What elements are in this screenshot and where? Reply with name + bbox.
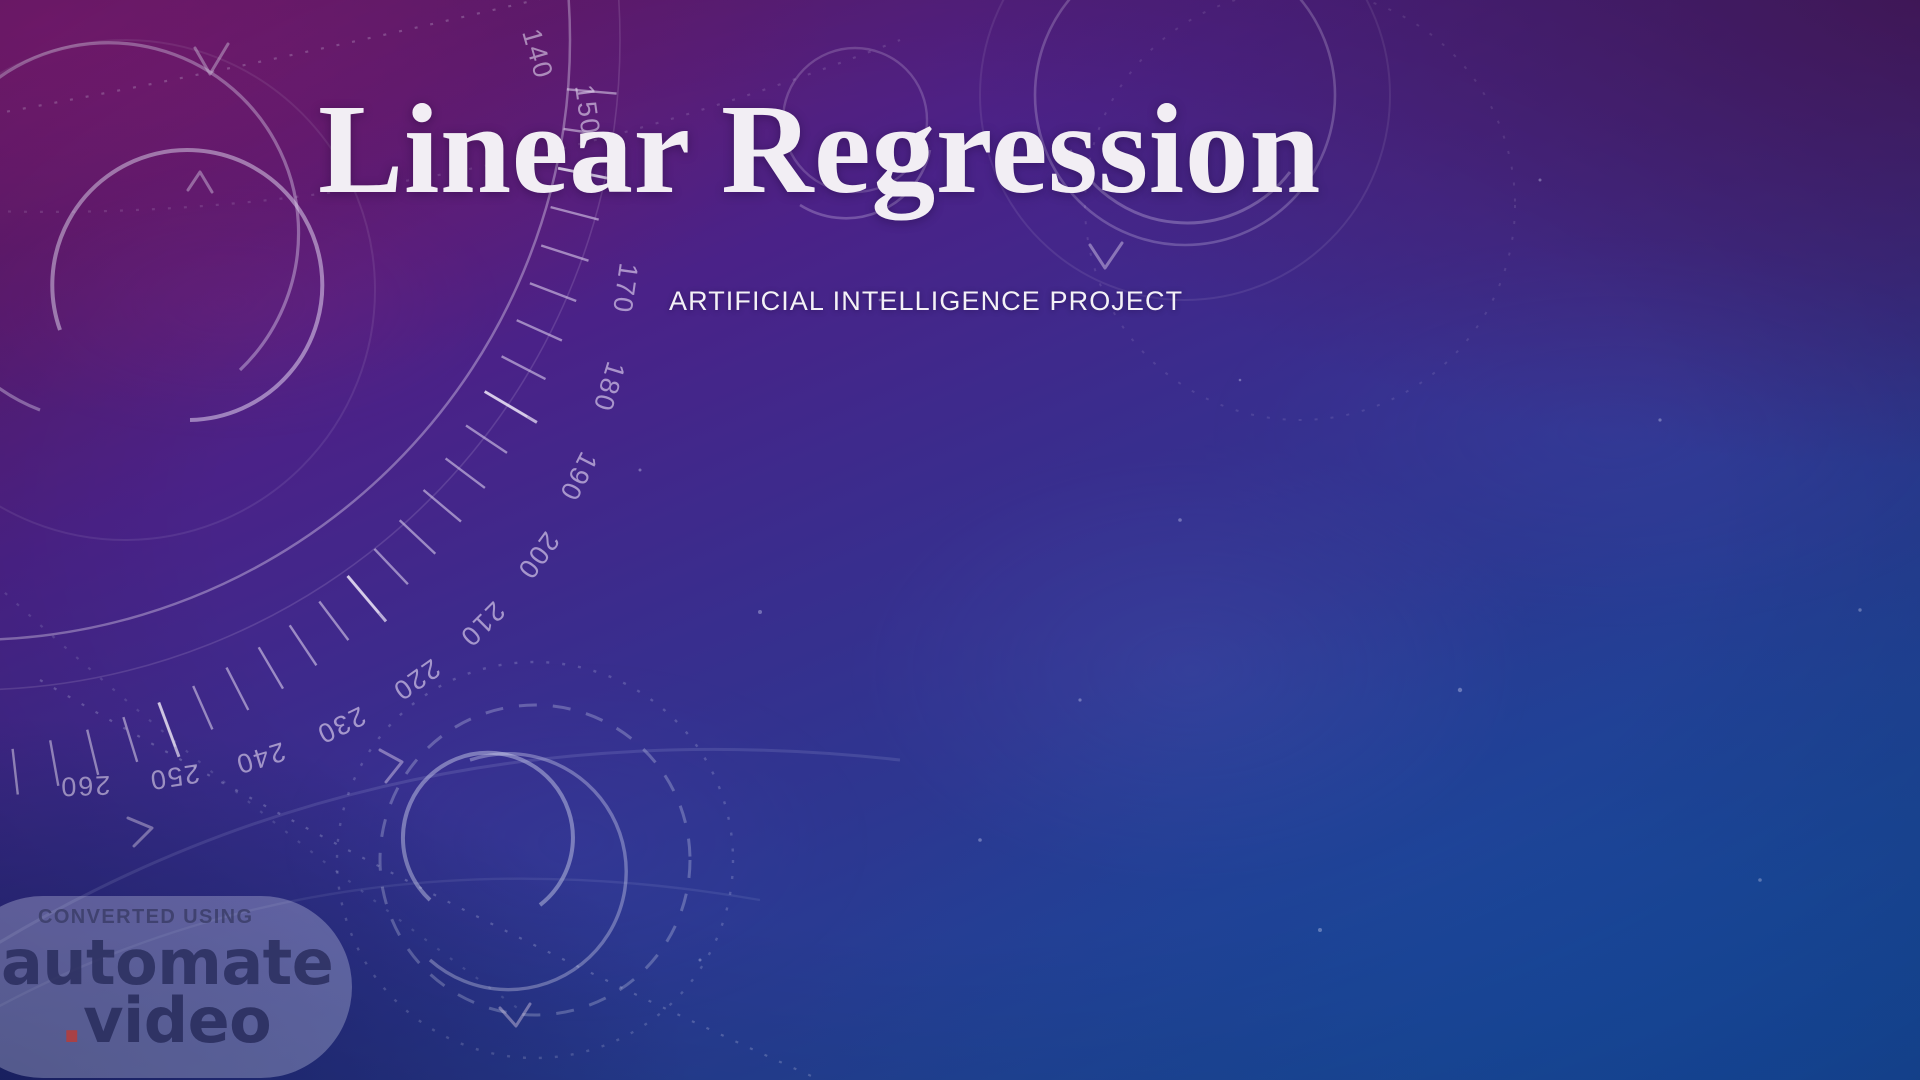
watermark-badge: CONVERTED USING automate .video <box>0 896 352 1078</box>
watermark-dot: . <box>60 984 83 1057</box>
title-slide: 140 150 170 180 190 200 210 220 230 240 … <box>0 0 1920 1080</box>
watermark-domain: .video <box>60 984 271 1057</box>
page-title: Linear Regression <box>318 78 1462 221</box>
page-subtitle: ARTIFICIAL INTELLIGENCE PROJECT <box>669 286 1183 317</box>
watermark-content: CONVERTED USING automate .video <box>0 896 352 1078</box>
watermark-domain-label: video <box>83 984 271 1057</box>
